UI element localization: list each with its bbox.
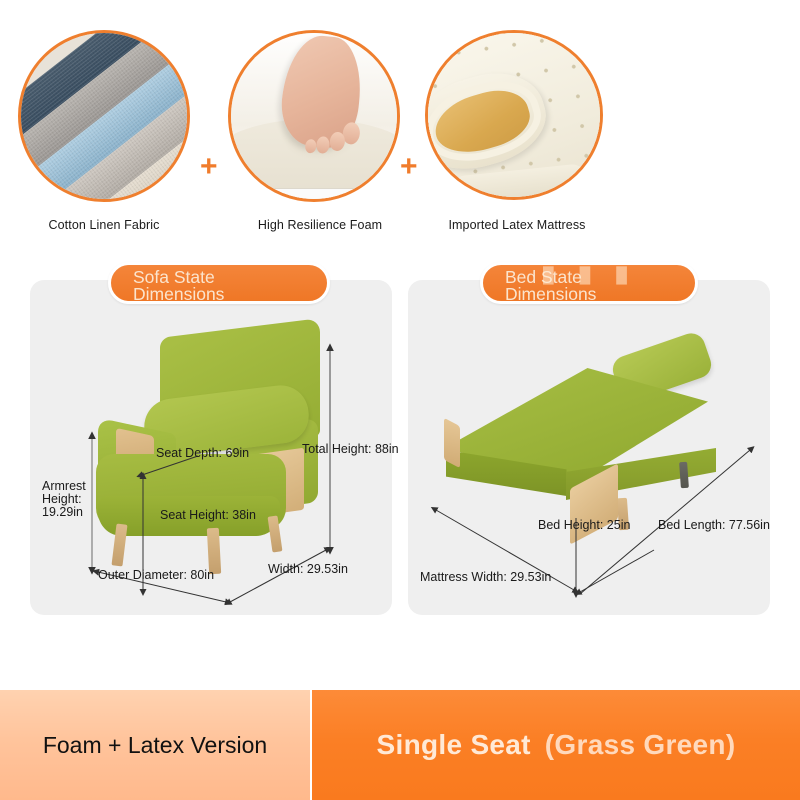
material-label-foam: High Resilience Foam [230, 218, 410, 232]
bed-dimensions-panel: Bed Height: 25in Bed Length: 77.56in Mat… [408, 280, 770, 615]
material-item-latex: Imported Latex Mattress [425, 30, 605, 200]
fabric-swatch-image [18, 30, 190, 202]
banner-color-label: (Grass Green) [545, 729, 736, 761]
material-item-foam: High Resilience Foam [228, 30, 408, 202]
sofa-dim-outer-diameter: Outer Diameter: 80in [98, 568, 214, 582]
latex-sheet-image [425, 30, 603, 200]
banner-version-segment: Foam + Latex Version [0, 690, 312, 800]
banner-seat-label: Single Seat [377, 729, 531, 761]
material-label-fabric: Cotton Linen Fabric [14, 218, 194, 232]
sofa-dim-seat-height: Seat Height: 38in [160, 508, 256, 522]
sofa-dimensions-panel: Total Height: 88in Seat Depth: 69in Seat… [30, 280, 392, 615]
bed-state-badge-label: Bed State Dimensions [483, 269, 596, 303]
dimensions-section: Total Height: 88in Seat Depth: 69in Seat… [0, 280, 800, 620]
bed-dim-mattress-width: Mattress Width: 29.53in [420, 570, 551, 584]
bed-state-badge: Bed State Dimensions ███ [480, 262, 698, 304]
banner-version-label: Foam + Latex Version [43, 732, 267, 759]
banner-variant-segment: Single Seat (Grass Green) [312, 690, 800, 800]
sofa-dim-width: Width: 29.53in [268, 562, 348, 576]
materials-section: Cotton Linen Fabric + High Resilience Fo… [0, 0, 800, 250]
bottom-banner: Foam + Latex Version Single Seat (Grass … [0, 690, 800, 800]
bed-dimension-arrows [408, 280, 770, 615]
bed-dim-bed-length: Bed Length: 77.56in [658, 518, 770, 532]
product-infographic: Cotton Linen Fabric + High Resilience Fo… [0, 0, 800, 800]
sofa-dim-total-height: Total Height: 88in [302, 442, 399, 456]
material-item-fabric: Cotton Linen Fabric [18, 30, 198, 202]
bed-dim-bed-height: Bed Height: 25in [538, 518, 630, 532]
plus-icon: + [200, 152, 218, 182]
sofa-dim-seat-depth: Seat Depth: 69in [156, 446, 249, 460]
plus-icon: + [400, 152, 418, 182]
sofa-dim-armrest-height: Armrest Height: 19.29in [42, 480, 86, 519]
material-label-latex: Imported Latex Mattress [427, 218, 607, 232]
sofa-state-badge: Sofa State Dimensions [108, 262, 330, 304]
sofa-state-badge-label: Sofa State Dimensions [111, 269, 224, 303]
foam-foot-press-image [228, 30, 400, 202]
